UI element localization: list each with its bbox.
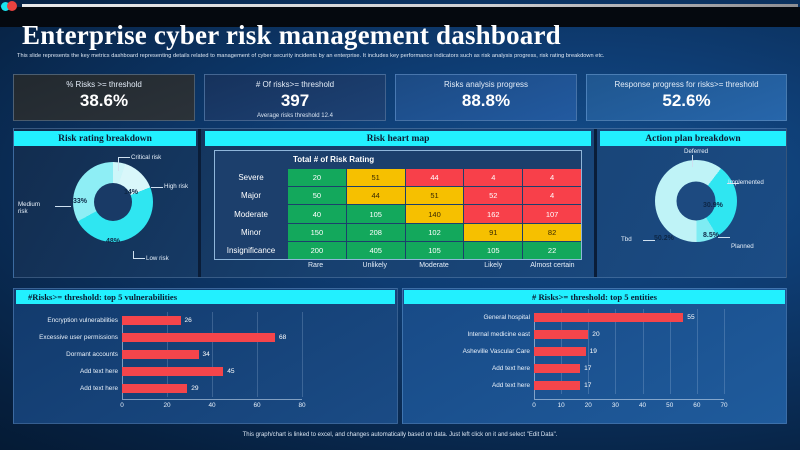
x-axis-tick: 50 [666, 402, 673, 409]
section-title: Action plan breakdown [645, 134, 740, 144]
heatmap-col-label: Unlikely [345, 262, 404, 274]
x-axis-tick: 0 [532, 402, 536, 409]
heatmap-col-label: Rare [286, 262, 345, 274]
heatmap-title: Total # of Risk Rating [288, 151, 581, 168]
kpi-subtext: Average risks threshold 12.4 [257, 113, 333, 119]
x-axis-tick: 20 [585, 402, 592, 409]
heatmap-row-label: Insignificance [215, 242, 287, 259]
leader-line [151, 187, 163, 188]
section-title: #Risks>= threshold: top 5 vulnerabilitie… [28, 292, 177, 302]
bar-chart-top5-vulnerabilities: 020406080Encryption vulnerabilities26Exc… [13, 305, 398, 423]
donut-label-high-risk: High risk [164, 183, 188, 190]
top-rule [22, 4, 798, 7]
heatmap-cell: 52 [464, 187, 522, 204]
bar-category-label: Add text here [402, 382, 530, 389]
bar-row: General hospital55 [402, 313, 787, 322]
kpi-label: Risks analysis progress [444, 80, 528, 89]
heatmap-cell: 82 [523, 224, 581, 241]
donut-label-deferred: Deferred [684, 148, 708, 155]
bar-category-label: Internal medicine east [402, 331, 530, 338]
kpi-card-analysis-progress: Risks analysis progress 88.8% [395, 74, 577, 121]
bar-chart-top5-entities: 010203040506070General hospital55Interna… [402, 305, 787, 423]
bar [534, 313, 683, 322]
red-dot-icon [7, 1, 17, 11]
bar-value-label: 68 [279, 334, 286, 341]
x-axis-tick: 30 [612, 402, 619, 409]
heatmap-x-axis: Rare Unlikely Moderate Likely Almost cer… [214, 262, 582, 274]
heatmap-row-label: Severe [215, 169, 287, 186]
bar [122, 384, 187, 393]
heatmap-col-label: Almost certain [523, 262, 582, 274]
bar-category-label: Dormant accounts [13, 351, 118, 358]
donut-value-high-risk: 14% [124, 189, 138, 196]
heatmap-row-label: Major [215, 187, 287, 204]
donut-label-planned: Planned [731, 243, 754, 250]
section-title: Risk rating breakdown [58, 134, 152, 144]
bar-value-label: 20 [592, 331, 599, 338]
kpi-label: Response progress for risks>= threshold [614, 80, 758, 89]
heatmap-row-label: Moderate [215, 205, 287, 222]
heatmap-cell: 105 [464, 242, 522, 259]
panel-divider [198, 129, 201, 277]
donut-value-implemented: 30.9% [703, 202, 723, 209]
bar-value-label: 34 [203, 351, 210, 358]
leader-line [118, 157, 130, 158]
leader-line [718, 237, 730, 238]
leader-line [692, 155, 693, 167]
x-axis-line [534, 399, 724, 400]
heatmap-cell: 200 [288, 242, 346, 259]
section-header-top5-vulnerabilities: #Risks>= threshold: top 5 vulnerabilitie… [16, 290, 395, 304]
heatmap-cell: 91 [464, 224, 522, 241]
bar-category-label: Add text here [13, 368, 118, 375]
kpi-value: 38.6% [80, 92, 128, 109]
bar-category-label: Excessive user permissions [13, 334, 118, 341]
heatmap-cell: 51 [347, 169, 405, 186]
heatmap-cell: 20 [288, 169, 346, 186]
x-axis-tick: 40 [208, 402, 215, 409]
kpi-label: % Risks >= threshold [66, 80, 142, 89]
bar-row: Add text here29 [13, 384, 398, 393]
heatmap-cell: 105 [406, 242, 464, 259]
section-header-risk-heart-map: Risk heart map [205, 131, 591, 146]
kpi-label: # Of risks>= threshold [256, 80, 334, 89]
heatmap-cell: 150 [288, 224, 346, 241]
bar-value-label: 29 [191, 385, 198, 392]
bar-value-label: 19 [590, 348, 597, 355]
donut-value-planned: 8.5% [703, 232, 719, 239]
bar-row: Dormant accounts34 [13, 350, 398, 359]
panel-divider [594, 129, 597, 277]
bar-category-label: Asheville Vascular Care [402, 348, 530, 355]
heatmap-cell: 208 [347, 224, 405, 241]
heatmap-cell: 40 [288, 205, 346, 222]
section-title: # Risks>= threshold: top 5 entities [532, 292, 657, 302]
x-axis-tick: 60 [253, 402, 260, 409]
heatmap-col-label: Likely [464, 262, 523, 274]
bar-value-label: 26 [185, 317, 192, 324]
section-header-risk-rating: Risk rating breakdown [14, 131, 196, 146]
bar-category-label: Add text here [402, 365, 530, 372]
heatmap-cell: 51 [406, 187, 464, 204]
leader-line [118, 157, 119, 171]
heatmap-cell: 107 [523, 205, 581, 222]
bar [122, 333, 275, 342]
page-title: Enterprise cyber risk management dashboa… [22, 20, 722, 51]
bar-value-label: 17 [584, 365, 591, 372]
donut-value-medium-risk: 33% [73, 198, 87, 205]
bar [534, 364, 580, 373]
footer-note: This graph/chart is linked to excel, and… [0, 432, 800, 438]
bar [534, 330, 588, 339]
bar-category-label: Encryption vulnerabilities [13, 317, 118, 324]
heatmap-cell: 105 [347, 205, 405, 222]
x-axis-tick: 40 [639, 402, 646, 409]
kpi-value: 88.8% [462, 92, 510, 109]
heatmap-cell: 44 [347, 187, 405, 204]
kpi-card-number-risks: # Of risks>= threshold 397 Average risks… [204, 74, 386, 121]
bar [122, 350, 199, 359]
page-subtitle: This slide represents the key metrics da… [17, 53, 787, 59]
donut-label-low-risk: Low risk [146, 255, 169, 262]
section-title: Risk heart map [367, 134, 430, 144]
bar-row: Excessive user permissions68 [13, 333, 398, 342]
heatmap-cell: 4 [523, 169, 581, 186]
heatmap-corner [215, 151, 287, 168]
bar-row: Add text here17 [402, 381, 787, 390]
donut-chart-action-plan [655, 160, 737, 242]
donut-label-critical-risk: Critical risk [131, 154, 161, 161]
bar [122, 316, 181, 325]
x-axis-tick: 60 [693, 402, 700, 409]
heatmap-cell: 50 [288, 187, 346, 204]
x-axis-tick: 10 [558, 402, 565, 409]
x-axis-tick: 80 [298, 402, 305, 409]
bar-category-label: General hospital [402, 314, 530, 321]
heatmap-cell: 405 [347, 242, 405, 259]
heatmap-cell: 162 [464, 205, 522, 222]
section-header-action-plan: Action plan breakdown [600, 131, 786, 146]
heatmap-cell: 22 [523, 242, 581, 259]
heatmap-cell: 4 [523, 187, 581, 204]
bar [122, 367, 223, 376]
bar-row: Internal medicine east20 [402, 330, 787, 339]
donut-value-tbd: 50.2% [654, 235, 674, 242]
leader-line [133, 258, 145, 259]
heatmap-cell: 102 [406, 224, 464, 241]
x-axis-line [122, 399, 302, 400]
kpi-value: 397 [281, 92, 309, 109]
heatmap-cell: 140 [406, 205, 464, 222]
donut-label-medium-risk: Mediumrisk [18, 201, 40, 215]
bar-row: Encryption vulnerabilities26 [13, 316, 398, 325]
bar-value-label: 45 [227, 368, 234, 375]
kpi-card-percent-risks: % Risks >= threshold 38.6% [13, 74, 195, 121]
slide-canvas: Enterprise cyber risk management dashboa… [0, 0, 800, 450]
x-axis-tick: 70 [720, 402, 727, 409]
bar [534, 347, 586, 356]
leader-line [55, 206, 71, 207]
bar-value-label: 55 [687, 314, 694, 321]
heatmap-cell: 44 [406, 169, 464, 186]
heatmap-col-label: Moderate [404, 262, 463, 274]
heatmap-table: Total # of Risk Rating Severe 20 51 44 4… [214, 150, 582, 260]
heatmap-row-label: Minor [215, 224, 287, 241]
corner-marker [1, 1, 37, 11]
bar-value-label: 17 [584, 382, 591, 389]
heatmap-cell: 4 [464, 169, 522, 186]
kpi-card-response-progress: Response progress for risks>= threshold … [586, 74, 787, 121]
bar [534, 381, 580, 390]
donut-label-implemented: Implemented [728, 179, 764, 186]
x-axis-tick: 0 [120, 402, 124, 409]
bar-row: Add text here17 [402, 364, 787, 373]
donut-label-tbd: Tbd [621, 236, 632, 243]
bar-row: Asheville Vascular Care19 [402, 347, 787, 356]
bar-row: Add text here45 [13, 367, 398, 376]
section-header-top5-entities: # Risks>= threshold: top 5 entities [404, 290, 785, 304]
x-axis-tick: 20 [163, 402, 170, 409]
kpi-value: 52.6% [662, 92, 710, 109]
donut-value-low-risk: 48% [106, 238, 120, 245]
bar-category-label: Add text here [13, 385, 118, 392]
